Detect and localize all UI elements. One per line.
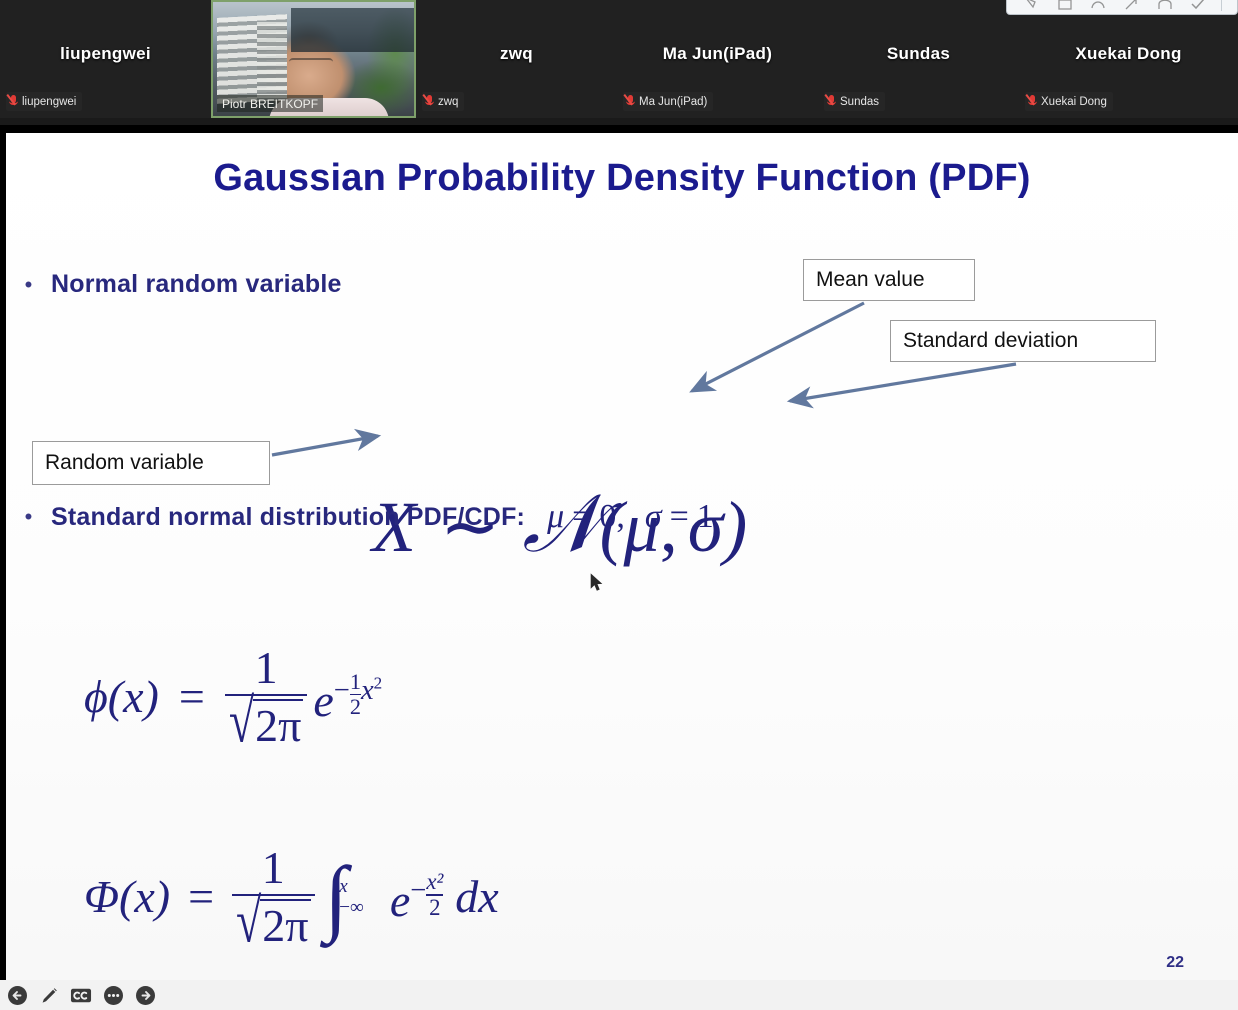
more-icon[interactable] [103,985,124,1006]
participant-name-3: zwq [416,44,617,64]
cdf-exponential: e−x²2 [390,871,443,924]
microphone-muted-icon [626,95,635,108]
pdf-exp-var-power: 2 [374,674,383,693]
previous-page-button[interactable] [6,984,28,1006]
cdf-exp-sign: − [410,875,426,906]
pdf-fraction-numerator: 1 [251,645,282,691]
square-root: √ 2π [236,899,310,949]
callout-label-mean-value: Mean value [816,268,925,292]
bullet-marker: • [6,506,51,528]
sigma-symbol: σ [645,498,662,535]
text-icon[interactable] [1055,0,1075,11]
bullet-text-2: Standard normal distribution PDF/CDF: [51,503,525,532]
callout-mean-value: Mean value [803,259,975,301]
cdf-exp-fraction: x²2 [426,871,443,920]
pdf-toolbar-buttons [6,984,156,1006]
cdf-differential: dx [455,874,498,920]
toolbar-separator [1221,0,1222,11]
radical-sign: √ [236,890,261,958]
pdf-radicand: 2π [253,699,303,749]
params-comma: , [616,498,625,535]
participant-tile-5[interactable]: Sundas Sundas [818,0,1020,118]
cdf-exponent: −x²2 [410,875,443,906]
bullet-item-1: • Normal random variable [6,270,342,299]
participant-name-badge-1: liupengwei [6,92,82,111]
pdf-exp-frac-den: 2 [350,696,361,718]
participant-name-6: Xuekai Dong [1019,44,1238,64]
participant-badge-label-1: liupengwei [22,96,76,108]
microphone-muted-icon [1028,95,1037,108]
participant-tile-6[interactable]: Xuekai Dong Xuekai Dong [1019,0,1238,118]
pdf-lhs: ϕ(x) [84,674,159,720]
participant-tile-4[interactable]: Ma Jun(iPad) Ma Jun(iPad) [617,0,819,118]
pdf-exp-fraction: 12 [350,671,361,719]
cdf-fraction: 1 √ 2π [232,845,314,949]
pdf-bottom-toolbar [0,980,1238,1010]
pdf-exp-base: e [313,674,333,725]
video-person-glasses [289,58,333,69]
formula-close-paren: ) [723,487,747,567]
bullet-marker: • [6,274,51,296]
participant-tile-1[interactable]: liupengwei liupengwei [0,0,212,118]
cdf-lhs: Φ(x) [84,874,170,920]
integral-limits: x −∞ [339,877,364,918]
callout-label-random-variable: Random variable [45,451,204,475]
participant-badge-label-4: Ma Jun(iPad) [639,96,707,108]
active-speaker-name-label: Piotr BREITKOPF [217,95,323,112]
mu-equals: = [572,498,591,535]
forward-arrow-icon[interactable] [135,985,156,1006]
participant-badge-label-5: Sundas [840,96,879,108]
next-page-button[interactable] [134,984,156,1006]
cdf-equals: = [188,874,214,920]
video-background-glass [291,8,416,52]
standard-params-math: μ=0,σ=1 [547,498,714,536]
participant-name-4: Ma Jun(iPad) [617,44,818,64]
participant-name-badge-4: Ma Jun(iPad) [623,92,713,111]
pdf-formula: ϕ(x) = 1 √ 2π e−12x2 [84,645,382,749]
mouse-cursor [590,573,603,592]
integral-upper-limit: x [339,877,364,896]
select-icon[interactable] [1022,0,1042,11]
cdf-exp-frac-den: 2 [429,897,440,920]
callout-random-variable: Random variable [32,441,270,485]
participant-name-1: liupengwei [0,44,211,64]
cdf-fraction-numerator: 1 [258,845,289,891]
video-background-building-2 [257,22,287,100]
pdf-fraction: 1 √ 2π [225,645,307,749]
participant-name-5: Sundas [818,44,1019,64]
microphone-muted-icon [425,95,434,108]
cdf-exp-frac-num: x² [426,871,443,894]
annotate-button[interactable] [38,984,60,1006]
callout-label-standard-deviation: Standard deviation [903,329,1078,353]
active-speaker-video-tile[interactable]: Piotr BREITKOPF [211,0,416,118]
participant-badge-label-3: zwq [438,96,458,108]
microphone-muted-icon [9,95,18,108]
pen-icon[interactable] [39,985,60,1006]
back-arrow-icon[interactable] [7,985,28,1006]
pdf-exponential: e−12x2 [313,671,382,724]
mu-symbol: μ [547,498,564,535]
more-options-button[interactable] [102,984,124,1006]
cdf-fraction-denominator: √ 2π [232,899,314,949]
closed-captions-button[interactable] [70,984,92,1006]
pdf-exponent: −12x2 [334,675,382,706]
microphone-muted-icon [827,95,836,108]
pdf-exp-sign: − [334,675,350,706]
radical-sign: √ [229,690,254,758]
cdf-radicand: 2π [260,899,310,949]
arrow-icon[interactable] [1121,0,1141,11]
square-root: √ 2π [229,699,303,749]
cc-icon[interactable] [70,986,92,1005]
callout-standard-deviation: Standard deviation [890,320,1156,362]
cdf-formula: Φ(x) = 1 √ 2π ∫ x −∞ [84,845,499,949]
participant-name-badge-3: zwq [422,92,464,111]
shared-slide: Gaussian Probability Density Function (P… [6,133,1238,980]
participant-tile-3[interactable]: zwq zwq [416,0,618,118]
integral: ∫ x −∞ [325,863,364,931]
check-icon[interactable] [1188,0,1208,11]
annotation-toolbar[interactable] [1006,0,1238,15]
pdf-exp-var: x [361,675,374,706]
pdf-fraction-denominator: √ 2π [225,699,307,749]
mu-value: 0 [599,498,616,535]
pdf-equals: = [179,674,205,720]
eraser-icon[interactable] [1155,0,1175,11]
slide-title: Gaussian Probability Density Function (P… [6,157,1238,200]
pdf-exp-frac-num: 1 [350,671,361,693]
zoom-screen-share-window: liupengwei liupengwei zwq zwq Ma Jun(iPa… [0,0,1238,1010]
draw-icon[interactable] [1088,0,1108,11]
sigma-value: 1 [697,498,714,535]
participant-badge-label-6: Xuekai Dong [1041,96,1107,108]
integral-lower-limit: −∞ [339,898,364,917]
participant-filmstrip: liupengwei liupengwei zwq zwq Ma Jun(iPa… [0,0,1238,125]
participant-name-badge-6: Xuekai Dong [1025,92,1113,111]
slide-page-number: 22 [1166,954,1184,972]
participant-name-badge-5: Sundas [824,92,885,111]
sigma-equals: = [670,498,689,535]
bullet-text-1: Normal random variable [51,270,342,299]
bullet-item-2: • Standard normal distribution PDF/CDF: … [6,498,714,536]
cdf-exp-base: e [390,874,410,925]
